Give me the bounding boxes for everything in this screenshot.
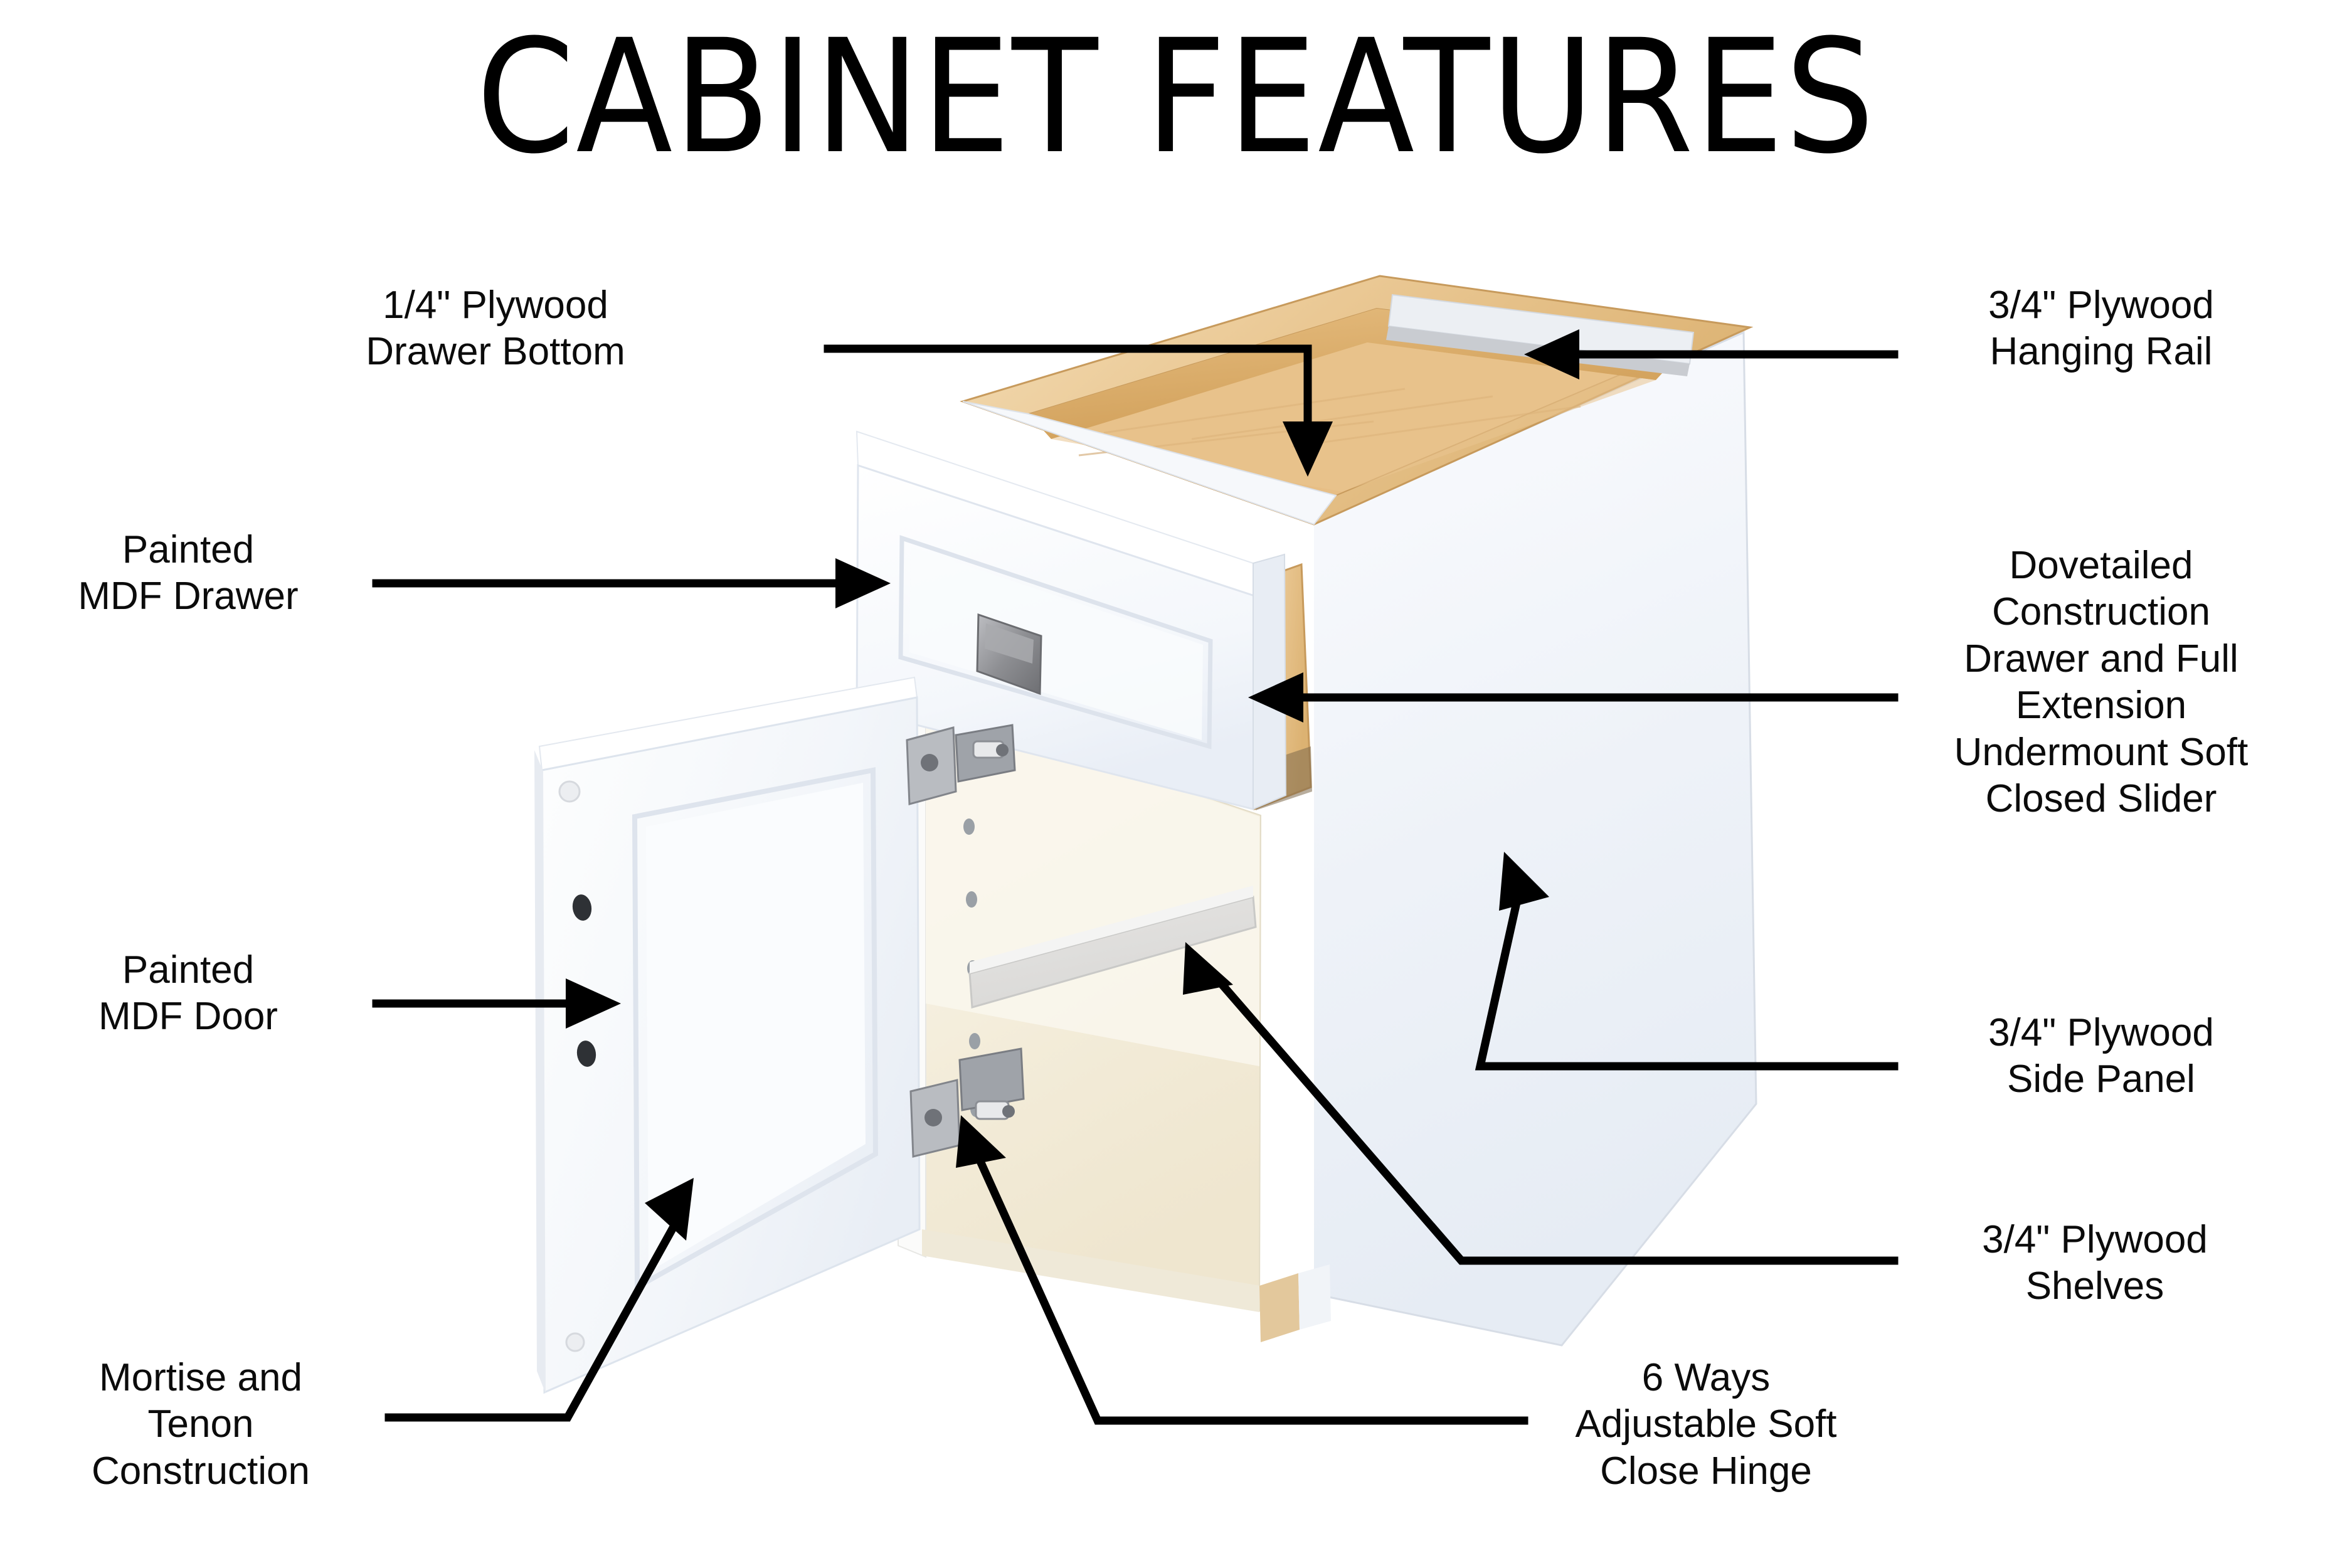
callout-label-mortise-tenon: Mortise and Tenon Construction bbox=[6, 1355, 395, 1495]
cabinet-door bbox=[534, 677, 919, 1394]
diagram-canvas: CABINET FEATURES bbox=[0, 0, 2352, 1568]
callout-label-drawer-bottom: 1/4" Plywood Drawer Bottom bbox=[301, 282, 690, 376]
callout-label-dovetail: Dovetailed Construction Drawer and Full … bbox=[1882, 543, 2321, 822]
callout-label-painted-mdf-door: Painted MDF Door bbox=[0, 947, 376, 1041]
callout-label-soft-close-hinge: 6 Ways Adjustable Soft Close Hinge bbox=[1486, 1355, 1926, 1495]
callout-label-painted-mdf-drawer: Painted MDF Drawer bbox=[0, 527, 376, 620]
callout-label-side-panel: 3/4" Plywood Side Panel bbox=[1900, 1010, 2302, 1103]
cabinet-base bbox=[1259, 1264, 1331, 1342]
callout-label-shelves: 3/4" Plywood Shelves bbox=[1894, 1217, 2296, 1310]
callout-label-hanging-rail: 3/4" Plywood Hanging Rail bbox=[1900, 282, 2302, 376]
